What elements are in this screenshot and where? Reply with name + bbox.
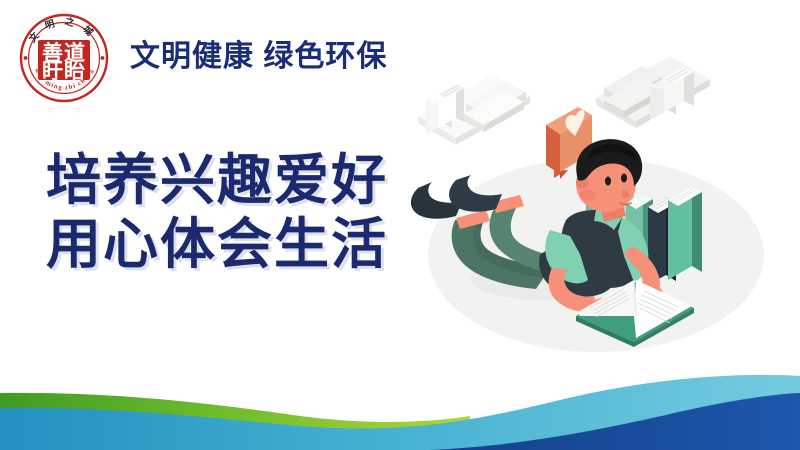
eye-left <box>605 177 611 186</box>
headline-line-1: 培养兴趣爱好 <box>46 152 388 208</box>
shelf-left <box>418 74 530 145</box>
seal-dot-right <box>101 56 105 60</box>
headline-block: 培养兴趣爱好 用心体会生活 <box>46 152 388 272</box>
seal-center-line2: 盱眙 <box>42 59 86 83</box>
wave-decoration <box>0 360 800 450</box>
poster-root: 善道 盱眙 文明之城 wen ming zhi cheng 文明健康 绿色环保 … <box>0 0 800 450</box>
book-5 <box>668 186 702 280</box>
shelf-right <box>596 56 710 128</box>
eye-right <box>621 174 627 183</box>
seal-dot-left <box>24 56 28 60</box>
illustration-boy-reading <box>400 40 800 370</box>
headline-line-2: 用心体会生活 <box>46 216 388 272</box>
circular-seal-logo: 善道 盱眙 文明之城 wen ming zhi cheng <box>18 12 110 104</box>
slogan-text: 文明健康 绿色环保 <box>130 42 387 72</box>
cheek-blush <box>580 190 596 201</box>
